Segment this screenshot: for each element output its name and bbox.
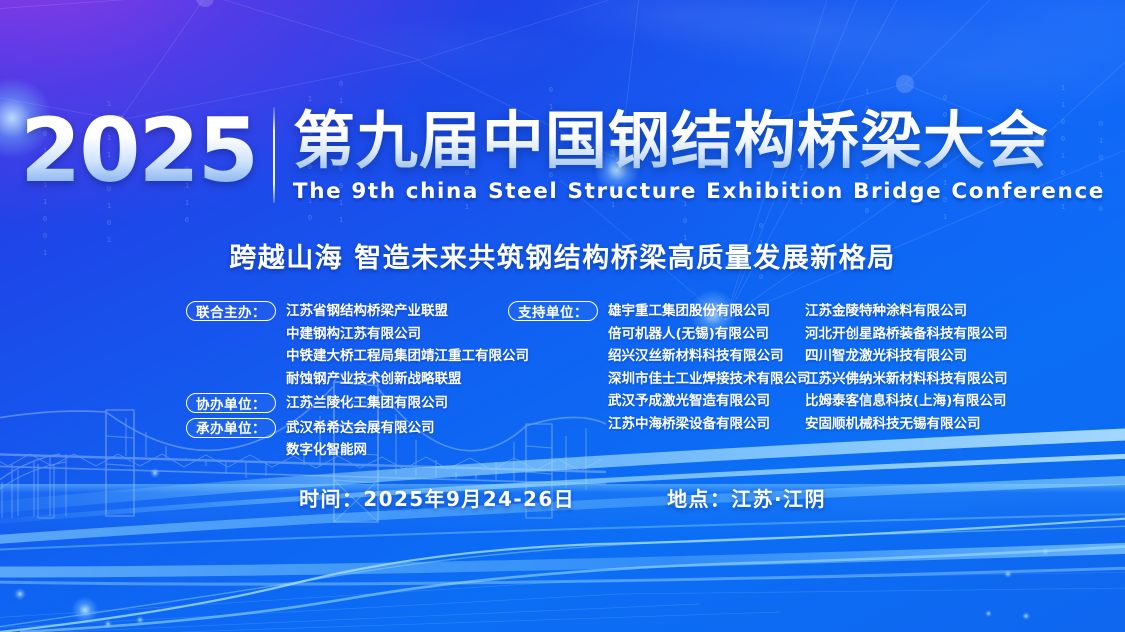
list-item: 倍可机器人(无锡)有限公司 bbox=[608, 323, 811, 346]
list-item: 耐蚀钢产业技术创新战略联盟 bbox=[286, 368, 529, 391]
list-item: 江苏金陵特种涂料有限公司 bbox=[805, 300, 1105, 323]
title-row: 2025 第九届中国钢结构桥梁大会 The 9th china Steel St… bbox=[0, 105, 1125, 205]
glow-dot bbox=[1004, 570, 1012, 578]
supporters-list-middle: 雄宇重工集团股份有限公司 倍可机器人(无锡)有限公司 绍兴汉丝新材料科技有限公司… bbox=[608, 300, 811, 435]
list-item: 中建钢构江苏有限公司 bbox=[286, 323, 529, 346]
joint-host-label: 联合主办： bbox=[186, 301, 276, 321]
co-organizer-list: 江苏兰陵化工集团有限公司 bbox=[286, 392, 448, 415]
glow-dot bbox=[150, 468, 160, 478]
banner-header: 2025 第九届中国钢结构桥梁大会 The 9th china Steel St… bbox=[0, 105, 1125, 205]
list-item: 江苏中海桥梁设备有限公司 bbox=[608, 413, 811, 436]
joint-host-list: 江苏省钢结构桥梁产业联盟 中建钢构江苏有限公司 中铁建大桥工程局集团靖江重工有限… bbox=[286, 300, 529, 390]
list-item: 江苏省钢结构桥梁产业联盟 bbox=[286, 300, 529, 323]
organizers-left-column: 联合主办： 江苏省钢结构桥梁产业联盟 中建钢构江苏有限公司 中铁建大桥工程局集团… bbox=[186, 300, 516, 464]
event-location: 地点：江苏·江阴 bbox=[667, 483, 826, 512]
glow-dot bbox=[104, 620, 112, 628]
conference-subtitle: 跨越山海 智造未来共筑钢结构桥梁高质量发展新格局 bbox=[0, 236, 1125, 275]
year-text: 2025 bbox=[20, 105, 273, 197]
event-date: 时间：2025年9月24-26日 bbox=[299, 483, 575, 512]
list-item: 武汉予成激光智造有限公司 bbox=[608, 390, 811, 413]
title-block: 第九届中国钢结构桥梁大会 The 9th china Steel Structu… bbox=[275, 105, 1105, 205]
list-item: 深圳市佳士工业焊接技术有限公司 bbox=[608, 368, 811, 391]
co-organizer-label: 协办单位： bbox=[186, 393, 276, 413]
organizers-section: 联合主办： 江苏省钢结构桥梁产业联盟 中建钢构江苏有限公司 中铁建大桥工程局集团… bbox=[0, 300, 1125, 460]
list-item: 河北开创星路桥装备科技有限公司 bbox=[805, 323, 1105, 346]
undertaker-label: 承办单位： bbox=[186, 418, 276, 438]
conference-title-en: The 9th china Steel Structure Exhibition… bbox=[293, 179, 1105, 205]
glow-dot bbox=[136, 616, 144, 624]
undertaker-group: 承办单位： 武汉希希达会展有限公司 数字化智能网 bbox=[186, 417, 516, 462]
glow-dot bbox=[14, 588, 26, 600]
list-item: 四川智龙激光科技有限公司 bbox=[805, 345, 1105, 368]
co-organizer-group: 协办单位： 江苏兰陵化工集团有限公司 bbox=[186, 392, 516, 415]
event-footer: 时间：2025年9月24-26日 地点：江苏·江阴 bbox=[0, 483, 1125, 512]
list-item: 数字化智能网 bbox=[286, 439, 435, 462]
list-item: 安固顺机械科技无锡有限公司 bbox=[805, 413, 1105, 436]
list-item: 雄宇重工集团股份有限公司 bbox=[608, 300, 811, 323]
organizers-middle-column: 支持单位： 雄宇重工集团股份有限公司 倍可机器人(无锡)有限公司 绍兴汉丝新材料… bbox=[508, 300, 808, 437]
list-item: 中铁建大桥工程局集团靖江重工有限公司 bbox=[286, 345, 529, 368]
list-item: 武汉希希达会展有限公司 bbox=[286, 417, 435, 440]
glow-dot bbox=[1022, 612, 1030, 620]
supporters-group: 支持单位： 雄宇重工集团股份有限公司 倍可机器人(无锡)有限公司 绍兴汉丝新材料… bbox=[508, 300, 808, 435]
glow-dot bbox=[1042, 548, 1049, 555]
undertaker-list: 武汉希希达会展有限公司 数字化智能网 bbox=[286, 417, 435, 462]
list-item: 绍兴汉丝新材料科技有限公司 bbox=[608, 345, 811, 368]
list-item: 比姆泰客信息科技(上海)有限公司 bbox=[805, 390, 1105, 413]
organizers-right-column: 江苏金陵特种涂料有限公司 河北开创星路桥装备科技有限公司 四川智龙激光科技有限公… bbox=[805, 300, 1105, 435]
glow-dot bbox=[985, 610, 992, 617]
conference-title-cn: 第九届中国钢结构桥梁大会 bbox=[293, 105, 1105, 177]
joint-host-group: 联合主办： 江苏省钢结构桥梁产业联盟 中建钢构江苏有限公司 中铁建大桥工程局集团… bbox=[186, 300, 516, 390]
conference-banner: 0 1 0 1 1 0 0 1 1 0 1 1 0 0 1 0 1 0 1 1 … bbox=[0, 0, 1125, 632]
list-item: 江苏兴佛纳米新材料科技有限公司 bbox=[805, 368, 1105, 391]
supporters-label: 支持单位： bbox=[508, 301, 598, 321]
list-item: 江苏兰陵化工集团有限公司 bbox=[286, 392, 448, 415]
glow-dot bbox=[72, 597, 98, 623]
